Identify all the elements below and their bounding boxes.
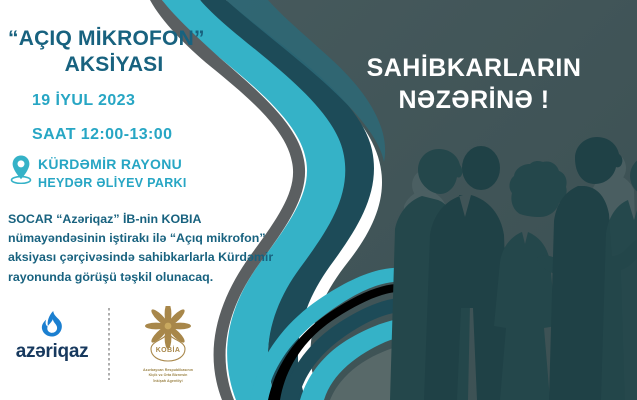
title-line-1: “AÇIQ MİKROFON”: [8, 26, 258, 52]
azeriqaz-wordmark: azəriqaz: [16, 341, 89, 363]
event-date: 19 İYUL 2023: [32, 92, 135, 110]
description-line-4: rayonunda görüşü təşkil olunacaq.: [8, 268, 308, 287]
page-title: “AÇIQ MİKROFON” AKSİYASI: [8, 26, 258, 77]
kobia-subtitle-line-2: Kiçik və Orta Biznesin: [143, 373, 193, 378]
headline-line-2: NƏZƏRİNƏ !: [329, 84, 619, 116]
kobia-logo: KOBİA Azərbaycan Respublikasının Kiçik v…: [120, 306, 216, 384]
logo-divider: [108, 308, 110, 380]
headline-line-1: SAHİBKARLARIN: [329, 52, 619, 84]
left-content-column: “AÇIQ MİKROFON” AKSİYASI 19 İYUL 2023 SA…: [0, 0, 330, 400]
map-pin-icon: [9, 154, 33, 184]
description-line-2: nümayəndəsinin iştirakı ilə “Açıq mikrof…: [8, 229, 308, 248]
svg-text:KOBİA: KOBİA: [156, 346, 181, 354]
kobia-subtitle: Azərbaycan Respublikasının Kiçik və Orta…: [143, 368, 193, 384]
title-line-2: AKSİYASI: [8, 52, 258, 78]
location-line-2: HEYDƏR ƏLİYEV PARKI: [38, 174, 187, 193]
headline: SAHİBKARLARIN NƏZƏRİNƏ !: [329, 52, 619, 116]
azeriqaz-logo: azəriqaz: [6, 306, 98, 363]
flame-icon: [38, 310, 66, 340]
sponsor-logos: azəriqaz: [6, 306, 221, 392]
event-description: SOCAR “Azəriqaz” İB-nin KOBIA nümayəndəs…: [8, 210, 308, 287]
event-location: KÜRDƏMİR RAYONU HEYDƏR ƏLİYEV PARKI: [38, 155, 187, 193]
description-line-3: aksiyası çərçivəsində sahibkarlarla Kürd…: [8, 248, 308, 267]
kobia-subtitle-line-3: İnkişafı Agentliyi: [143, 379, 193, 384]
location-line-1: KÜRDƏMİR RAYONU: [38, 155, 187, 174]
people-silhouettes: [390, 137, 637, 400]
event-time: SAAT 12:00-13:00: [32, 126, 172, 144]
description-line-1: SOCAR “Azəriqaz” İB-nin KOBIA: [8, 210, 308, 229]
flower-icon: KOBİA: [137, 306, 199, 366]
poster-canvas: “AÇIQ MİKROFON” AKSİYASI 19 İYUL 2023 SA…: [0, 0, 637, 400]
